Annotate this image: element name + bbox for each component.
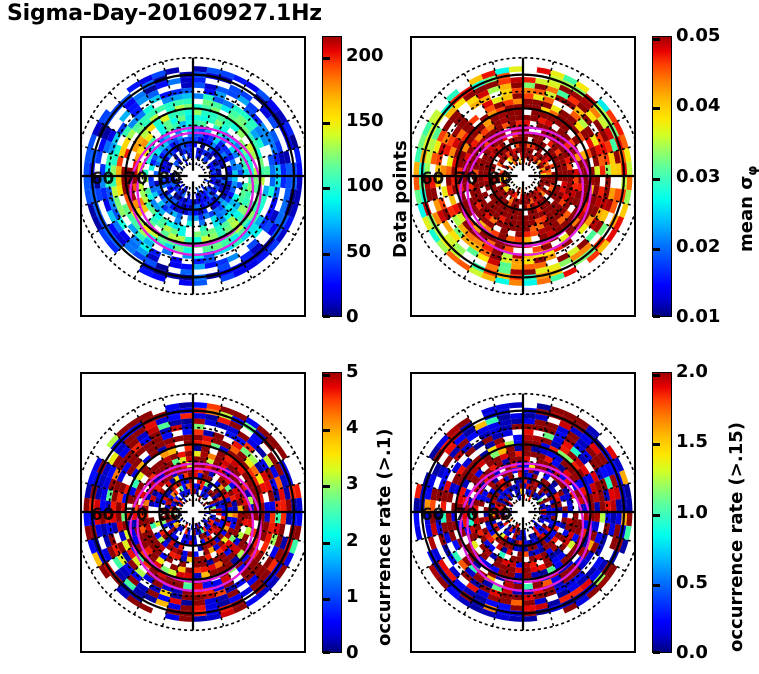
- polar-bin-cell: [193, 435, 203, 441]
- polar-bin-cell: [446, 176, 452, 186]
- polar-bin-cell: [511, 599, 523, 605]
- polar-bin-cell: [184, 445, 193, 451]
- polar-bin-cell: [615, 499, 621, 512]
- polar-bin-cell: [285, 499, 291, 512]
- polar-bin-cell: [269, 501, 275, 512]
- polar-bin-cell: [513, 99, 523, 105]
- polar-bin-cell: [179, 616, 193, 622]
- radial-tick-label: 80: [488, 168, 511, 188]
- colorbar-occurrence-rate-01-title: occurrence rate (>.1): [376, 429, 394, 646]
- colorbar-tick-label: 0.03: [676, 168, 720, 186]
- polar-bin-cell: [181, 263, 193, 269]
- polar-bin-cell: [84, 162, 90, 176]
- cbar2-label-base: mean σ: [736, 176, 757, 252]
- polar-bin-cell: [599, 512, 605, 523]
- polar-bin-cell: [193, 93, 204, 99]
- polar-bin-cell: [509, 616, 523, 622]
- colorbar-tick-label: 0.04: [676, 97, 720, 115]
- polar-bin-cell: [181, 82, 193, 88]
- polar-bin-cell: [181, 418, 193, 424]
- polar-plot-data-points[interactable]: 607080: [80, 36, 306, 317]
- polar-bin-cell: [615, 512, 621, 525]
- polar-bin-cell: [523, 418, 535, 424]
- polar-bin-cell: [515, 567, 523, 573]
- polar-bin-cell: [523, 599, 535, 605]
- polar-bin-cell: [594, 176, 600, 186]
- polar-bin-cell: [523, 99, 533, 105]
- polar-bin-cell: [523, 77, 536, 83]
- polar-bin-cell: [594, 512, 600, 522]
- polar-bin-cell: [414, 526, 422, 541]
- colorbar-tick-label: 200: [346, 47, 384, 65]
- polar-bin-cell: [280, 500, 286, 512]
- polar-bin-cell: [193, 605, 206, 611]
- polar-bin-cell: [183, 583, 193, 589]
- radial-tick-label-group: 607080: [91, 504, 182, 524]
- polar-bin-cell: [264, 502, 270, 512]
- polar-bin-cell: [264, 166, 270, 176]
- polar-bin-cell: [193, 429, 204, 435]
- polar-bin-cell: [296, 162, 302, 176]
- polar-bin-cell: [605, 164, 611, 176]
- colorbar-occurrence-rate-01[interactable]: [322, 372, 342, 653]
- polar-bin-cell: [280, 176, 286, 188]
- colorbar-tick: [323, 542, 330, 545]
- radial-tick-label: 70: [455, 168, 478, 188]
- polar-bin-cell: [537, 67, 552, 75]
- colorbar-tick: [653, 374, 660, 377]
- polar-bin-cell: [193, 573, 202, 579]
- polar-bin-cell: [509, 402, 523, 408]
- polar-bin-cell: [183, 99, 193, 105]
- polar-bin-cell: [513, 435, 523, 441]
- polar-bin-cell: [116, 502, 122, 512]
- polar-bin-cell: [626, 162, 632, 176]
- polar-bin-cell: [296, 498, 302, 512]
- polar-bin-cell: [523, 88, 534, 94]
- colorbar-tick-label: 0.5: [676, 574, 708, 592]
- radial-tick-label: 70: [125, 504, 148, 524]
- polar-bin-cell: [285, 163, 291, 176]
- polar-bin-cell: [296, 176, 302, 190]
- polar-bin-cell: [511, 263, 523, 269]
- colorbar-tick-label: 100: [346, 177, 384, 195]
- polar-bin-cell: [275, 500, 281, 512]
- polar-bin-cell: [626, 176, 632, 190]
- polar-bin-cell: [605, 500, 611, 512]
- polar-bin-cell: [449, 195, 457, 206]
- cbar2-label-subscript: φ: [746, 166, 759, 176]
- radial-tick-label-group: 607080: [421, 168, 512, 188]
- polar-bin-cell: [594, 166, 600, 176]
- polar-plot-mean-sigma-phi[interactable]: 607080: [410, 36, 636, 317]
- colorbar-tick: [323, 253, 330, 256]
- polar-bin-cell: [193, 82, 205, 88]
- colorbar-tick-label: 1: [346, 588, 359, 606]
- radial-tick-label: 60: [91, 168, 114, 188]
- polar-bin-cell: [514, 109, 523, 115]
- polar-bin-cell: [193, 424, 204, 430]
- polar-bin-cell: [513, 583, 523, 589]
- polar-bin-cell: [269, 512, 275, 523]
- polar-bin-cell: [523, 93, 534, 99]
- polar-bin-cell: [515, 231, 523, 237]
- polar-plot-occurrence-rate-015[interactable]: 607080: [410, 372, 636, 653]
- polar-bin-cell: [280, 164, 286, 176]
- polar-bin-cell: [185, 115, 193, 121]
- polar-bin-cell: [193, 451, 201, 457]
- colorbar-data-points[interactable]: [322, 36, 342, 317]
- colorbar-tick: [653, 38, 660, 41]
- polar-bin-cell: [167, 78, 180, 86]
- colorbar-tick: [653, 107, 660, 110]
- polar-bin-cell: [179, 402, 193, 408]
- polar-bin-cell: [523, 594, 534, 600]
- polar-bin-cell: [523, 237, 532, 243]
- radial-tick-label-group: 607080: [91, 168, 182, 188]
- radial-tick-label: 80: [158, 168, 181, 188]
- polar-bin-cell: [523, 115, 531, 121]
- polar-bin-cell: [193, 263, 205, 269]
- polar-bin-cell: [185, 567, 193, 573]
- polar-bin-cell: [184, 237, 193, 243]
- polar-bin-cell: [193, 231, 201, 237]
- polar-bin-cell: [510, 605, 523, 611]
- colorbar-tick-label: 0: [346, 308, 359, 326]
- polar-bin-cell: [182, 429, 193, 435]
- radial-tick-label: 60: [91, 504, 114, 524]
- polar-bin-cell: [509, 66, 523, 72]
- polar-bin-cell: [523, 435, 533, 441]
- colorbar-tick: [653, 178, 660, 181]
- colorbar-tick: [323, 122, 330, 125]
- polar-bin-cell: [193, 237, 202, 243]
- polar-bin-cell: [610, 164, 616, 176]
- polar-bin-cell: [184, 573, 193, 579]
- colorbar-tick-label: 5: [346, 363, 359, 381]
- colorbar-tick-label: 2.0: [676, 363, 708, 381]
- radial-tick-label-group: 607080: [421, 504, 512, 524]
- polar-bin-cell: [193, 115, 201, 121]
- polar-bin-cell: [116, 512, 122, 522]
- colorbar-tick-label: 50: [346, 243, 371, 261]
- polar-bin-cell: [511, 82, 523, 88]
- radial-tick-label: 80: [488, 504, 511, 524]
- colorbar-tick-label: 1.0: [676, 504, 708, 522]
- polar-bin-cell: [523, 445, 532, 451]
- polar-bin-cell: [514, 445, 523, 451]
- polar-bin-cell: [510, 77, 523, 83]
- polar-plot-occurrence-rate-015-canvas: 607080: [412, 374, 634, 651]
- radial-tick-label: 70: [455, 504, 478, 524]
- polar-bin-cell: [193, 77, 206, 83]
- colorbar-tick-label: 3: [346, 475, 359, 493]
- radial-tick-label: 70: [125, 168, 148, 188]
- colorbar-mean-sigma-phi[interactable]: [652, 36, 672, 317]
- polar-bin-cell: [523, 413, 536, 419]
- polar-bin-cell: [414, 176, 420, 190]
- colorbar-tick: [323, 485, 330, 488]
- polar-bin-cell: [510, 413, 523, 419]
- colorbar-tick: [653, 443, 660, 446]
- polar-bin-cell: [84, 512, 90, 526]
- polar-bin-cell: [446, 512, 452, 522]
- polar-bin-cell: [510, 269, 523, 275]
- polar-bin-cell: [275, 164, 281, 176]
- colorbar-tick: [323, 57, 330, 60]
- polar-bin-cell: [294, 148, 302, 163]
- polar-bin-cell: [512, 93, 523, 99]
- polar-bin-cell: [523, 616, 537, 622]
- colorbar-tick-label: 150: [346, 112, 384, 130]
- polar-bin-cell: [523, 429, 534, 435]
- polar-bin-cell: [512, 88, 523, 94]
- polar-bin-cell: [193, 599, 205, 605]
- polar-bin-cell: [193, 594, 204, 600]
- colorbar-tick: [323, 651, 330, 654]
- colorbar-occurrence-rate-015[interactable]: [652, 372, 672, 653]
- polar-bin-cell: [512, 424, 523, 430]
- polar-bin-cell: [523, 269, 536, 275]
- polar-bin-cell: [165, 67, 180, 75]
- polar-bin-cell: [182, 93, 193, 99]
- polar-bin-cell: [184, 109, 193, 115]
- polar-bin-cell: [523, 567, 531, 573]
- polar-bin-cell: [180, 77, 193, 83]
- polar-bin-cell: [269, 176, 275, 187]
- polar-bin-cell: [523, 263, 535, 269]
- polar-bin-cell: [193, 445, 202, 451]
- polar-bin-cell: [285, 176, 291, 189]
- polar-bin-cell: [280, 512, 286, 524]
- polar-bin-cell: [514, 237, 523, 243]
- polar-bin-cell: [523, 231, 531, 237]
- polar-bin-cell: [523, 451, 531, 457]
- colorbar-tick: [653, 248, 660, 251]
- polar-bin-cell: [193, 402, 207, 408]
- colorbar-tick: [323, 187, 330, 190]
- polar-bin-cell: [509, 280, 523, 286]
- colorbar-tick: [653, 651, 660, 654]
- polar-bin-cell: [599, 501, 605, 512]
- polar-bin-cell: [193, 109, 202, 115]
- polar-bin-cell: [296, 512, 302, 526]
- polar-bin-cell: [180, 413, 193, 419]
- polar-bin-cell: [193, 258, 204, 264]
- polar-bin-cell: [185, 451, 193, 457]
- colorbar-tick-label: 1.5: [676, 433, 708, 451]
- polar-plot-occurrence-rate-01[interactable]: 607080: [80, 372, 306, 653]
- polar-bin-cell: [180, 269, 193, 275]
- polar-plot-data-points-canvas: 607080: [82, 38, 304, 315]
- colorbar-tick-label: 0: [346, 644, 359, 662]
- colorbar-tick: [323, 429, 330, 432]
- polar-bin-cell: [193, 583, 203, 589]
- colorbar-tick: [653, 514, 660, 517]
- radial-tick-label: 60: [421, 504, 444, 524]
- colorbar-occurrence-rate-015-title: occurrence rate (>.15): [728, 422, 746, 652]
- polar-bin-cell: [414, 162, 420, 176]
- polar-bin-cell: [446, 166, 452, 176]
- polar-bin-cell: [182, 88, 193, 94]
- polar-bin-cell: [183, 435, 193, 441]
- colorbar-tick: [323, 374, 330, 377]
- polar-bin-cell: [179, 280, 193, 286]
- polar-bin-cell: [181, 599, 193, 605]
- polar-bin-cell: [610, 512, 616, 524]
- colorbar-tick-label: 0.0: [676, 644, 708, 662]
- polar-bin-cell: [264, 512, 270, 522]
- polar-bin-cell: [84, 498, 90, 512]
- polar-bin-cell: [523, 605, 536, 611]
- colorbar-tick: [323, 598, 330, 601]
- polar-bin-cell: [193, 413, 206, 419]
- polar-bin-cell: [285, 512, 291, 525]
- polar-bin-cell: [523, 424, 534, 430]
- polar-plot-occurrence-rate-01-canvas: 607080: [82, 374, 304, 651]
- colorbar-tick-label: 2: [346, 532, 359, 550]
- colorbar-data-points-title: Data points: [392, 140, 410, 258]
- polar-bin-cell: [594, 502, 600, 512]
- radial-tick-label: 80: [158, 504, 181, 524]
- colorbar-tick: [323, 315, 330, 318]
- polar-bin-cell: [183, 247, 193, 253]
- colorbar-tick-label: 0.02: [676, 238, 720, 256]
- polar-bin-cell: [269, 165, 275, 176]
- polar-bin-cell: [523, 82, 535, 88]
- colorbar-tick: [653, 315, 660, 318]
- polar-bin-cell: [414, 498, 420, 512]
- polar-bin-cell: [116, 176, 122, 186]
- polar-bin-cell: [193, 616, 207, 622]
- colorbar-tick-label: 0.01: [676, 308, 720, 326]
- radial-tick-label: 60: [421, 168, 444, 188]
- polar-bin-cell: [626, 498, 632, 512]
- polar-bin-cell: [193, 567, 201, 573]
- polar-bin-cell: [414, 512, 420, 526]
- polar-bin-cell: [116, 166, 122, 176]
- polar-bin-cell: [523, 280, 537, 286]
- polar-bin-cell: [182, 424, 193, 430]
- polar-bin-cell: [523, 573, 532, 579]
- polar-bin-cell: [227, 252, 240, 262]
- colorbar-tick-label: 4: [346, 419, 359, 437]
- polar-bin-cell: [514, 573, 523, 579]
- polar-bin-cell: [84, 176, 90, 190]
- figure-canvas: Sigma-Day-20160927.1Hz 607080 Data point…: [0, 0, 759, 674]
- polar-bin-cell: [515, 451, 523, 457]
- polar-bin-cell: [615, 163, 621, 176]
- colorbar-tick-label: 0.05: [676, 27, 720, 45]
- polar-bin-cell: [193, 66, 207, 72]
- polar-bin-cell: [180, 605, 193, 611]
- polar-bin-cell: [610, 500, 616, 512]
- polar-bin-cell: [523, 583, 533, 589]
- polar-bin-cell: [193, 418, 205, 424]
- polar-bin-cell: [193, 280, 207, 286]
- polar-bin-cell: [626, 512, 632, 526]
- polar-bin-cell: [599, 165, 605, 176]
- polar-bin-cell: [515, 115, 523, 121]
- polar-plot-mean-sigma-phi-canvas: 607080: [412, 38, 634, 315]
- polar-bin-cell: [511, 418, 523, 424]
- polar-bin-cell: [523, 258, 534, 264]
- figure-title: Sigma-Day-20160927.1Hz: [7, 1, 322, 26]
- colorbar-mean-sigma-phi-title: mean σφ: [738, 166, 759, 252]
- colorbar-tick: [653, 584, 660, 587]
